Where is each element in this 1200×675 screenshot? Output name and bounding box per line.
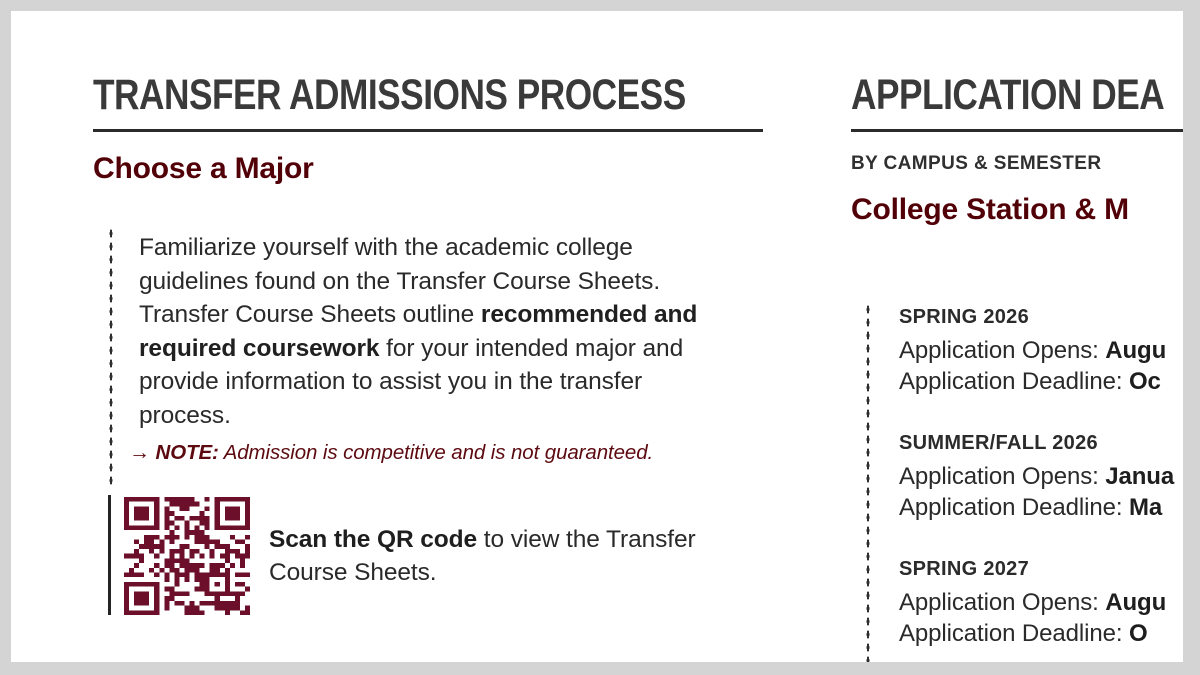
qr-code-block[interactable]	[124, 497, 250, 615]
term-row-value: Ma	[1129, 494, 1162, 521]
deadline-list: SPRING 2026Application Opens: AuguApplic…	[899, 306, 1183, 662]
term-block: SPRING 2027Application Opens: AuguApplic…	[899, 558, 1183, 649]
term-row-label: Application Opens:	[899, 463, 1105, 490]
term-row-label: Application Deadline:	[899, 368, 1129, 395]
choose-a-major-heading: Choose a Major	[93, 152, 763, 185]
note-text: Admission is competitive and is not guar…	[224, 441, 653, 464]
choose-a-major-body: Familiarize yourself with the academic c…	[139, 231, 739, 432]
term-row-value: Augu	[1105, 337, 1166, 364]
right-title-divider	[851, 129, 1183, 132]
right-subtitle: BY CAMPUS & SEMESTER	[851, 153, 1183, 175]
term-row: Application Deadline: Ma	[899, 492, 1183, 523]
qr-code-icon[interactable]	[124, 497, 250, 615]
document-page: TRANSFER ADMISSIONS PROCESS Choose a Maj…	[11, 11, 1183, 662]
note-label: NOTE:	[156, 441, 219, 464]
page-title: TRANSFER ADMISSIONS PROCESS	[93, 74, 642, 117]
term-row: Application Opens: Augu	[899, 587, 1183, 618]
term-row-value: Oc	[1129, 368, 1161, 395]
term-row: Application Opens: Augu	[899, 335, 1183, 366]
term-name: SUMMER/FALL 2026	[899, 432, 1183, 455]
campus-heading: College Station & M	[851, 193, 1183, 227]
right-dotted-guide	[866, 303, 870, 662]
arrow-right-icon: →	[129, 441, 150, 464]
term-name: SPRING 2026	[899, 306, 1183, 329]
qr-caption-bold: Scan the QR code	[269, 526, 477, 553]
term-row-label: Application Deadline:	[899, 620, 1129, 647]
left-column: TRANSFER ADMISSIONS PROCESS Choose a Maj…	[93, 74, 763, 185]
term-name: SPRING 2027	[899, 558, 1183, 581]
title-divider	[93, 129, 763, 132]
term-row: Application Deadline: O	[899, 618, 1183, 649]
application-deadlines-title: APPLICATION DEA	[851, 74, 1131, 117]
term-row-label: Application Opens:	[899, 589, 1105, 616]
term-row-label: Application Opens:	[899, 337, 1105, 364]
term-row: Application Opens: Janua	[899, 461, 1183, 492]
note-line: → NOTE: Admission is competitive and is …	[129, 441, 653, 465]
term-block: SPRING 2026Application Opens: AuguApplic…	[899, 306, 1183, 397]
term-row-value: O	[1129, 620, 1148, 647]
qr-accent-line	[108, 495, 111, 615]
qr-caption: Scan the QR code to view the Transfer Co…	[269, 523, 699, 589]
screenshot-viewport: TRANSFER ADMISSIONS PROCESS Choose a Maj…	[0, 0, 1200, 675]
term-block: SUMMER/FALL 2026Application Opens: Janua…	[899, 432, 1183, 523]
term-row-value: Janua	[1105, 463, 1174, 490]
term-row-label: Application Deadline:	[899, 494, 1129, 521]
term-row: Application Deadline: Oc	[899, 366, 1183, 397]
left-dotted-guide	[109, 227, 113, 485]
term-row-value: Augu	[1105, 589, 1166, 616]
